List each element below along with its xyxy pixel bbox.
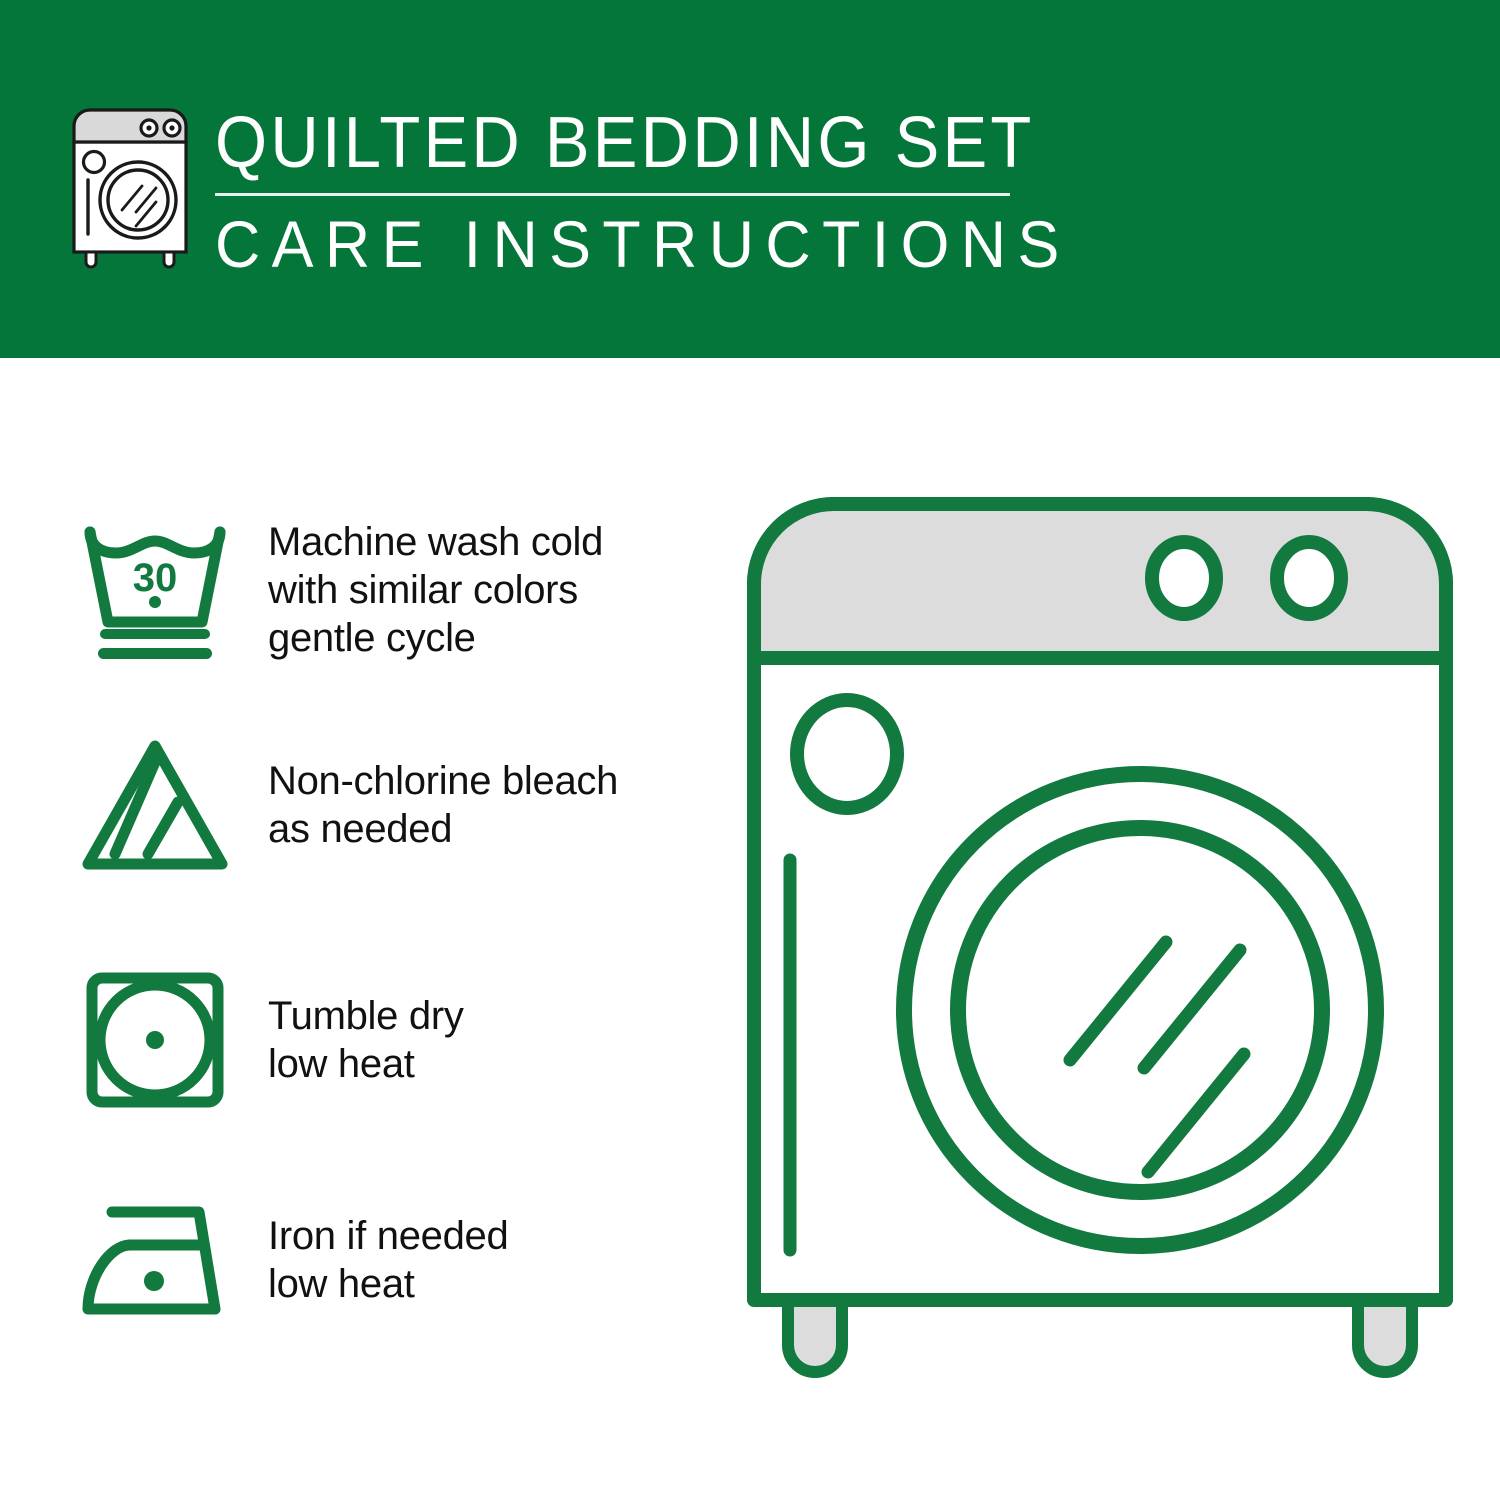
care-line: gentle cycle [268,614,603,662]
care-instructions-page: QUILTED BEDDING SET CARE INSTRUCTIONS [0,0,1500,1500]
detergent-dispenser [797,700,897,808]
care-text-bleach: Non-chlorine bleach as needed [268,757,618,853]
knob-right [1277,542,1341,614]
knob-left [1152,542,1216,614]
header-banner: QUILTED BEDDING SET CARE INSTRUCTIONS [0,0,1500,358]
machine-wash-30-gentle-icon: 30 [70,510,240,670]
header-text-block: QUILTED BEDDING SET CARE INSTRUCTIONS [215,100,1035,283]
care-line: Iron if needed [268,1212,508,1260]
care-line: as needed [268,805,618,853]
care-text-machine-wash: Machine wash cold with similar colors ge… [268,518,603,662]
washing-machine-icon [62,104,202,269]
drum-door-inner [958,828,1322,1192]
care-row-tumble-dry: Tumble dry low heat [70,960,720,1120]
title-divider [215,193,1010,196]
care-text-iron: Iron if needed low heat [268,1212,508,1308]
front-load-washing-machine-illustration [740,490,1460,1420]
care-line: low heat [268,1040,464,1088]
care-row-bleach: Non-chlorine bleach as needed [70,725,720,885]
care-line: Machine wash cold [268,518,603,566]
care-row-machine-wash: 30 Machine wash cold with similar colors… [70,510,720,670]
wash-temperature-label: 30 [133,556,178,600]
non-chlorine-bleach-triangle-icon [70,725,240,885]
tumble-dry-low-heat-icon [70,960,240,1120]
care-line: Non-chlorine bleach [268,757,618,805]
page-subtitle: CARE INSTRUCTIONS [215,205,994,283]
care-line: with similar colors [268,566,603,614]
care-line: Tumble dry [268,992,464,1040]
care-text-tumble-dry: Tumble dry low heat [268,992,464,1088]
care-line: low heat [268,1260,508,1308]
page-title: QUILTED BEDDING SET [215,100,978,186]
care-row-iron: Iron if needed low heat [70,1180,720,1340]
iron-low-heat-icon [70,1180,240,1340]
